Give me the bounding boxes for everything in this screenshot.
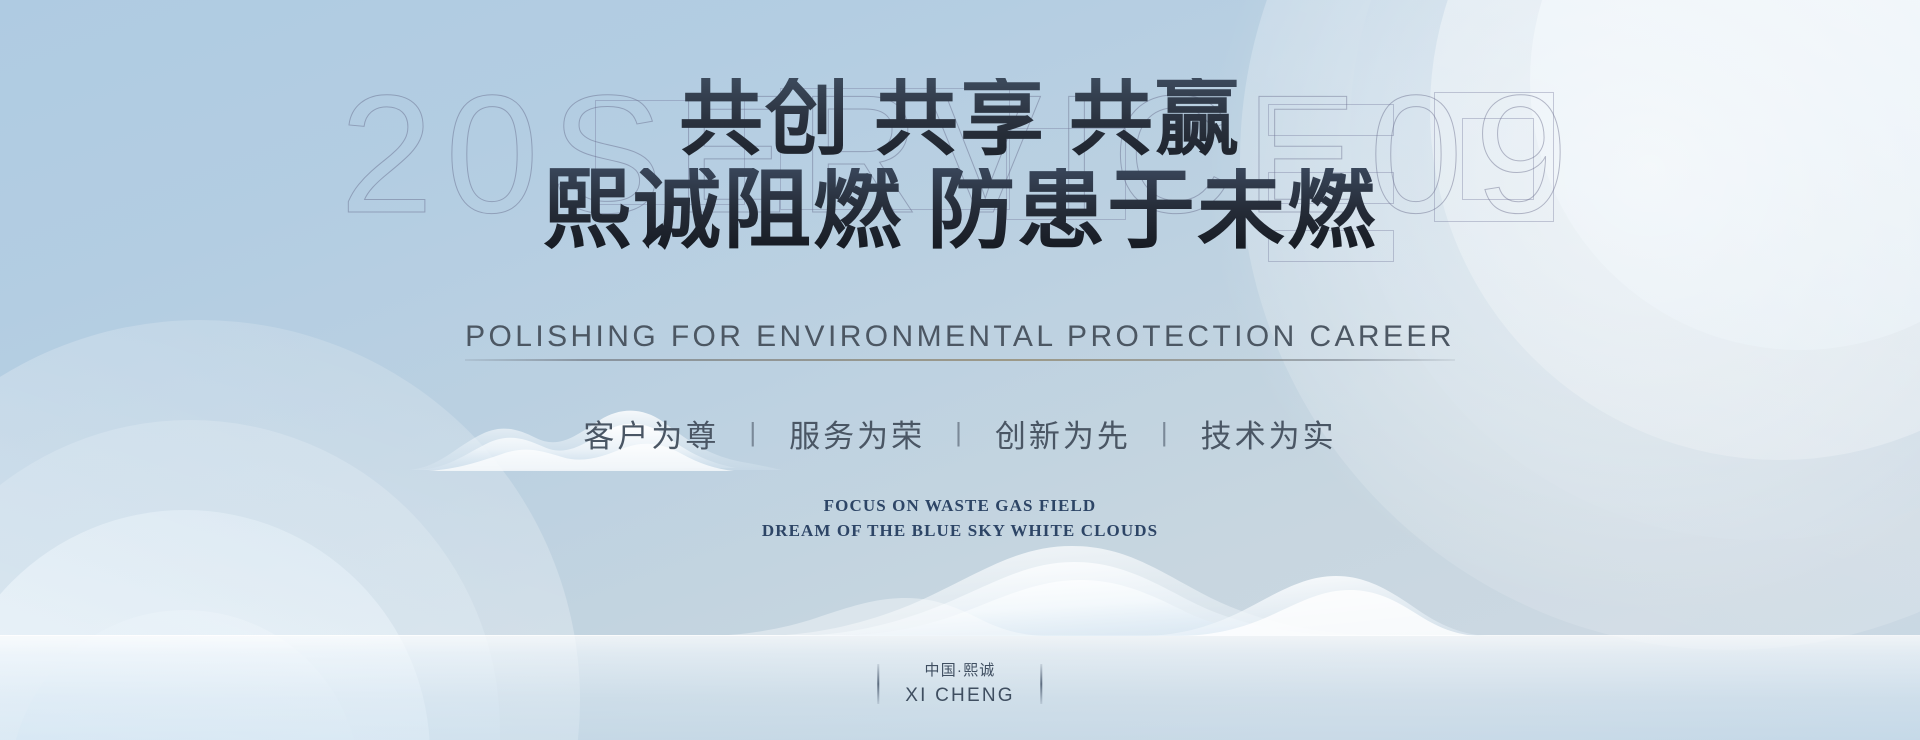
brand-text-group: 中国·熙诚 XI CHENG bbox=[905, 660, 1014, 708]
value-item-3: 创新为先 bbox=[969, 411, 1157, 456]
headline-primary: 共创 共享 共赢 bbox=[679, 78, 1241, 162]
brand-name-en: XI CHENG bbox=[905, 683, 1014, 709]
value-separator-2: | bbox=[951, 417, 969, 448]
value-separator-3: | bbox=[1157, 417, 1175, 448]
value-item-1: 客户为尊 bbox=[557, 411, 745, 456]
hero-banner: 20SERVICE09 bbox=[0, 0, 1920, 740]
brand-footer: 中国·熙诚 XI CHENG bbox=[877, 660, 1042, 708]
brand-divider-right bbox=[1041, 664, 1043, 704]
english-tagline-group: POLISHING FOR ENVIRONMENTAL PROTECTION C… bbox=[465, 320, 1455, 361]
value-list: 客户为尊 | 服务为荣 | 创新为先 | 技术为实 bbox=[557, 411, 1362, 456]
mini-english-line-1: FOCUS ON WASTE GAS FIELD bbox=[762, 494, 1158, 519]
value-separator-1: | bbox=[745, 417, 763, 448]
brand-name-cn: 中国·熙诚 bbox=[905, 660, 1014, 683]
value-item-2: 服务为荣 bbox=[763, 411, 951, 456]
headline-secondary: 熙诚阻燃 防患于未燃 bbox=[543, 168, 1377, 256]
english-tagline-underline bbox=[465, 359, 1455, 361]
value-item-4: 技术为实 bbox=[1175, 411, 1363, 456]
mini-english-block: FOCUS ON WASTE GAS FIELD DREAM OF THE BL… bbox=[762, 494, 1158, 543]
brand-divider-left bbox=[877, 664, 879, 704]
english-tagline: POLISHING FOR ENVIRONMENTAL PROTECTION C… bbox=[465, 320, 1455, 354]
mini-english-line-2: DREAM OF THE BLUE SKY WHITE CLOUDS bbox=[762, 519, 1158, 544]
hero-content: 共创 共享 共赢 熙诚阻燃 防患于未燃 POLISHING FOR ENVIRO… bbox=[0, 0, 1920, 740]
